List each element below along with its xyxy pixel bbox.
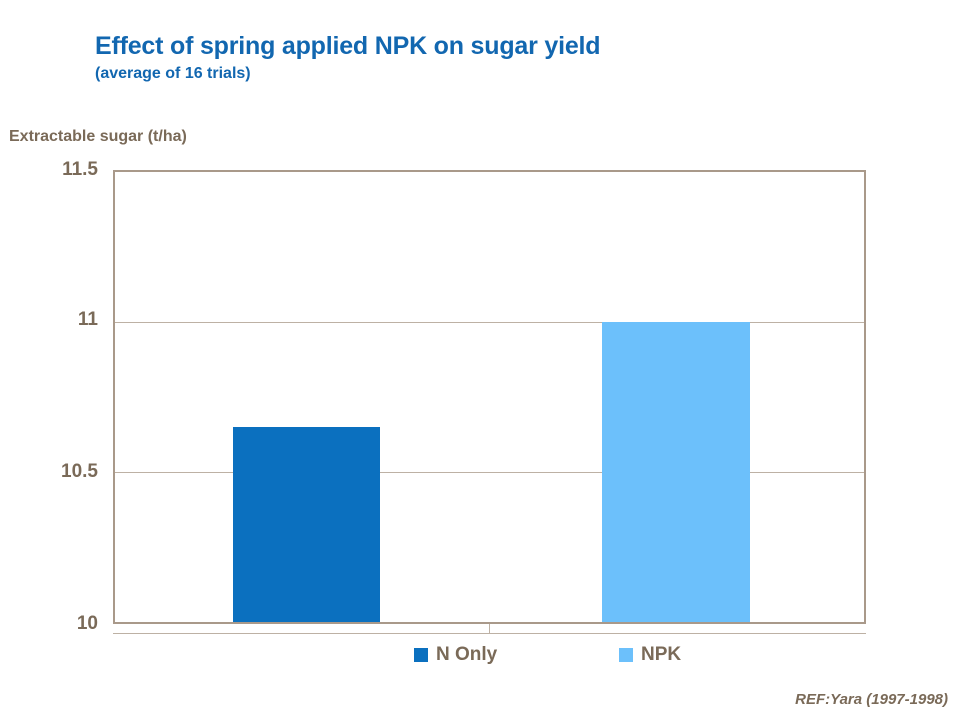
y-tick-label-10-5: 10.5	[6, 461, 98, 483]
legend-swatch-icon-n-only	[414, 648, 428, 662]
plot-area	[113, 170, 866, 624]
y-tick-label-11: 11	[6, 309, 98, 331]
gridline-11	[115, 322, 864, 323]
source-note: REF:Yara (1997-1998)	[795, 691, 948, 708]
page-title: Effect of spring applied NPK on sugar yi…	[95, 31, 855, 61]
y-tick-label-10: 10	[6, 613, 98, 635]
chart-subtitle: (average of 16 trials)	[95, 64, 855, 84]
gridline-10-5	[115, 472, 864, 473]
x-axis-extension-line	[113, 633, 866, 634]
bar-n-only[interactable]	[233, 427, 380, 622]
y-tick-label-11-5: 11.5	[6, 159, 98, 181]
bar-npk[interactable]	[602, 322, 750, 622]
y-axis-title: Extractable sugar (t/ha)	[9, 128, 187, 146]
legend-swatch-icon-npk	[619, 648, 633, 662]
legend-item-npk[interactable]: NPK	[619, 644, 681, 666]
title-block: Effect of spring applied NPK on sugar yi…	[95, 31, 855, 84]
legend: N Only NPK	[0, 644, 960, 672]
legend-item-n-only[interactable]: N Only	[414, 644, 497, 666]
legend-label-npk: NPK	[641, 644, 681, 666]
legend-label-n-only: N Only	[436, 644, 497, 666]
